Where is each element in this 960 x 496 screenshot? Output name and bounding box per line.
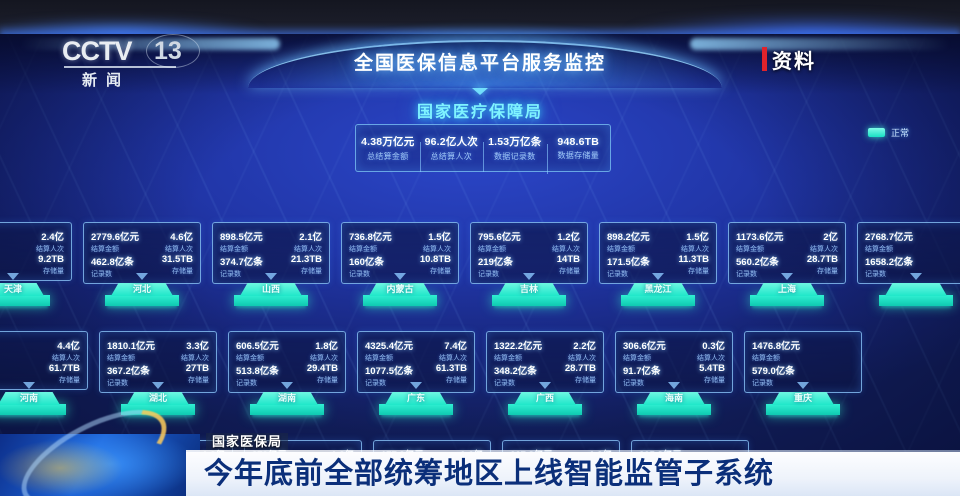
province-label: 广西	[508, 391, 582, 404]
province-plinth[interactable]: 吉林	[492, 283, 566, 309]
metric-label: 结算金额	[494, 353, 545, 363]
metric-record-count: 462.8亿条记录数	[91, 254, 142, 279]
node-connector	[152, 382, 164, 389]
metric-value: 27TB	[158, 363, 209, 374]
metric-value: 579.0亿条	[752, 363, 803, 377]
node-connector	[797, 382, 809, 389]
metric-label: 结算人次	[416, 353, 467, 363]
node-connector	[136, 273, 148, 280]
metric-settlement-amount	[0, 338, 29, 363]
channel-logo: CCTV 13 新闻	[62, 36, 212, 92]
metric-value: 1.2亿	[529, 229, 580, 243]
metric-value: 1658.2亿条	[865, 254, 916, 268]
metric-settlement-amount: 4325.4亿元结算金额	[365, 338, 416, 363]
channel-logo-number: 13	[154, 37, 182, 66]
plinth-body	[879, 295, 953, 306]
metric-label: 结算人次	[158, 353, 209, 363]
metric-value: 2.1亿	[271, 229, 322, 243]
node-connector	[668, 382, 680, 389]
metric-record-count: 579.0亿条记录数	[752, 363, 803, 388]
channel-logo-subtitle: 新闻	[82, 69, 130, 90]
metric-value: 61.3TB	[416, 363, 467, 374]
province-label: 重庆	[766, 391, 840, 404]
metric-label: 结算人次	[13, 244, 64, 254]
metric-value: 11.3TB	[658, 254, 709, 265]
metric-settlement-amount: 1810.1亿元结算金额	[107, 338, 158, 363]
metric-settlement-people: 1.8亿结算人次	[287, 338, 338, 363]
metric-label: 存储量	[13, 266, 64, 276]
metric-record-count: 1658.2亿条记录数	[865, 254, 916, 279]
metric-record-count: 91.7亿条记录数	[623, 363, 674, 388]
lower-third-graphic	[0, 434, 200, 496]
metric-value: 28.7TB	[787, 254, 838, 265]
metric-value: 306.6亿元	[623, 338, 674, 352]
province-plinth[interactable]: 重庆	[766, 392, 840, 418]
plinth-top	[885, 283, 947, 296]
metric-value: 61.7TB	[29, 363, 80, 374]
metric-record-count: 171.5亿条记录数	[607, 254, 658, 279]
metric-label: 结算人次	[287, 353, 338, 363]
metric-value: 2.2亿	[545, 338, 596, 352]
node-connector	[7, 273, 19, 280]
metric-label: 记录数	[736, 269, 787, 279]
metric-settlement-amount: 898.2亿元结算金额	[607, 229, 658, 254]
metric-storage-size	[916, 254, 960, 279]
province-label: 吉林	[492, 282, 566, 295]
province-label: 山西	[234, 282, 308, 295]
metric-record-count: 1077.5亿条记录数	[365, 363, 416, 388]
metric-label: 结算金额	[478, 244, 529, 254]
plinth-body	[0, 295, 50, 306]
metric-value: 1.5亿	[400, 229, 451, 243]
metric-label: 存储量	[158, 375, 209, 385]
metric-label: 记录数	[865, 269, 916, 279]
source-tag-label: 资料	[772, 45, 816, 74]
plinth-body	[0, 404, 66, 415]
metric-label: 存储量	[529, 266, 580, 276]
metric-label: 结算金额	[236, 353, 287, 363]
metric-label: 记录数	[91, 269, 142, 279]
metric-settlement-people: 4.6亿结算人次	[142, 229, 193, 254]
metric-label: 结算人次	[787, 244, 838, 254]
metric-storage-size: 61.7TB存储量	[29, 363, 80, 385]
metric-label: 结算金额	[865, 244, 916, 254]
metric-label: 记录数	[752, 378, 803, 388]
plinth-body	[105, 295, 179, 306]
metric-value: 1476.8亿元	[752, 338, 803, 352]
metric-settlement-amount: 2768.7亿元结算金额	[865, 229, 916, 254]
metric-label: 记录数	[107, 378, 158, 388]
metric-settlement-amount: 306.6亿元结算金额	[623, 338, 674, 363]
province-metric-card[interactable]: 2768.7亿元结算金额1658.2亿条记录数	[857, 222, 960, 284]
metric-value: 1.8亿	[287, 338, 338, 352]
metric-settlement-people: 0.3亿结算人次	[674, 338, 725, 363]
metric-label: 结算人次	[674, 353, 725, 363]
node-connector	[652, 273, 664, 280]
metric-label: 结算金额	[91, 244, 142, 254]
metric-value: 348.2亿条	[494, 363, 545, 377]
metric-value: 4.6亿	[142, 229, 193, 243]
lower-third-headline: 今年底前全部统筹地区上线智能监管子系统	[204, 455, 774, 493]
plinth-body	[492, 295, 566, 306]
metric-settlement-people: 1.5亿结算人次	[400, 229, 451, 254]
metric-settlement-people: 7.4亿结算人次	[416, 338, 467, 363]
metric-storage-size: 29.4TB存储量	[287, 363, 338, 388]
metric-value: 1322.2亿元	[494, 338, 545, 352]
plinth-body	[637, 404, 711, 415]
metric-label: 存储量	[29, 375, 80, 385]
node-connector	[265, 273, 277, 280]
province-plinth[interactable]: 河南	[0, 392, 66, 418]
metric-value: 3.3亿	[158, 338, 209, 352]
metric-label: 记录数	[220, 269, 271, 279]
metric-label: 存储量	[416, 375, 467, 385]
metric-settlement-amount	[0, 229, 13, 254]
metric-value: 7.4亿	[416, 338, 467, 352]
province-label: 湖北	[121, 391, 195, 404]
source-tag: 资料	[762, 46, 816, 72]
metric-value: 4.4亿	[29, 338, 80, 352]
province-label: 上海	[750, 282, 824, 295]
plinth-body	[363, 295, 437, 306]
metric-record-count: 513.8亿条记录数	[236, 363, 287, 388]
metric-storage-size: 5.4TB存储量	[674, 363, 725, 388]
plinth-body	[250, 404, 324, 415]
metric-settlement-people	[916, 229, 960, 254]
metric-label: 存储量	[787, 266, 838, 276]
plinth-body	[621, 295, 695, 306]
node-connector	[523, 273, 535, 280]
metric-value: 29.4TB	[287, 363, 338, 374]
metric-label: 结算金额	[623, 353, 674, 363]
province-plinth[interactable]: 上海	[750, 283, 824, 309]
metric-value: 5.4TB	[674, 363, 725, 374]
metric-storage-size: 14TB存储量	[529, 254, 580, 279]
metric-value: 560.2亿条	[736, 254, 787, 268]
metric-label: 结算金额	[349, 244, 400, 254]
metric-settlement-people: 2.4亿结算人次	[13, 229, 64, 254]
metric-label: 记录数	[349, 269, 400, 279]
metric-record-count: 219亿条记录数	[478, 254, 529, 279]
metric-storage-size: 27TB存储量	[158, 363, 209, 388]
metric-label: 存储量	[674, 375, 725, 385]
metric-value: 1173.6亿元	[736, 229, 787, 243]
node-connector	[394, 273, 406, 280]
province-label: 河北	[105, 282, 179, 295]
province-label: 内蒙古	[363, 282, 437, 295]
metric-value: 14TB	[529, 254, 580, 265]
metric-value: 898.2亿元	[607, 229, 658, 243]
metric-settlement-people: 2.2亿结算人次	[545, 338, 596, 363]
node-connector	[410, 382, 422, 389]
metric-label: 记录数	[236, 378, 287, 388]
metric-value: 28.7TB	[545, 363, 596, 374]
metric-value: 4325.4亿元	[365, 338, 416, 352]
metric-label: 记录数	[607, 269, 658, 279]
metric-storage-size: 10.8TB存储量	[400, 254, 451, 279]
metric-value: 160亿条	[349, 254, 400, 268]
metric-label: 结算金额	[607, 244, 658, 254]
metric-label: 结算金额	[736, 244, 787, 254]
province-plinth[interactable]: 内蒙古	[363, 283, 437, 309]
metric-value: 374.7亿条	[220, 254, 271, 268]
province-label: 河南	[0, 391, 66, 404]
metric-settlement-amount: 1476.8亿元结算金额	[752, 338, 803, 363]
province-plinth[interactable]	[879, 283, 953, 309]
metric-label: 存储量	[287, 375, 338, 385]
metric-storage-size: 28.7TB存储量	[787, 254, 838, 279]
metric-settlement-people: 2亿结算人次	[787, 229, 838, 254]
province-plinth[interactable]: 山西	[234, 283, 308, 309]
metric-settlement-amount: 736.8亿元结算金额	[349, 229, 400, 254]
metric-label: 结算人次	[658, 244, 709, 254]
metric-storage-size: 21.3TB存储量	[271, 254, 322, 279]
metric-storage-size: 61.3TB存储量	[416, 363, 467, 388]
metric-settlement-people: 1.5亿结算人次	[658, 229, 709, 254]
metric-label: 存储量	[142, 266, 193, 276]
province-plinth[interactable]: 湖南	[250, 392, 324, 418]
metric-settlement-people: 3.3亿结算人次	[158, 338, 209, 363]
metric-label: 存储量	[545, 375, 596, 385]
metric-label: 存储量	[400, 266, 451, 276]
metric-value: 736.8亿元	[349, 229, 400, 243]
plinth-body	[750, 295, 824, 306]
metric-settlement-amount: 606.5亿元结算金额	[236, 338, 287, 363]
plinth-body	[766, 404, 840, 415]
metric-value: 367.2亿条	[107, 363, 158, 377]
metric-label: 记录数	[365, 378, 416, 388]
province-label: 天津	[0, 282, 50, 295]
metric-value: 10.8TB	[400, 254, 451, 265]
metric-label: 存储量	[271, 266, 322, 276]
metric-label: 存储量	[658, 266, 709, 276]
metric-settlement-people	[803, 338, 854, 363]
province-plinth[interactable]: 黑龙江	[621, 283, 695, 309]
metric-record-count: 348.2亿条记录数	[494, 363, 545, 388]
metric-settlement-amount: 898.5亿元结算金额	[220, 229, 271, 254]
metric-value: 1077.5亿条	[365, 363, 416, 377]
metric-label: 结算人次	[529, 244, 580, 254]
metric-storage-size: 28.7TB存储量	[545, 363, 596, 388]
broadcast-screenshot: 全国医保信息平台服务监控 国家医疗保障局 4.38万亿元 总结算金额 96.2亿…	[0, 0, 960, 496]
plinth-body	[379, 404, 453, 415]
province-label: 广东	[379, 391, 453, 404]
metric-settlement-amount: 795.6亿元结算金额	[478, 229, 529, 254]
province-plinth[interactable]: 河北	[105, 283, 179, 309]
metric-storage-size: 31.5TB存储量	[142, 254, 193, 279]
metric-label: 结算金额	[752, 353, 803, 363]
lower-third-banner: 国家医保局 今年底前全部统筹地区上线智能监管子系统	[0, 434, 960, 496]
province-label: 黑龙江	[621, 282, 695, 295]
metric-value: 462.8亿条	[91, 254, 142, 268]
metric-settlement-people: 1.2亿结算人次	[529, 229, 580, 254]
province-label: 海南	[637, 391, 711, 404]
metric-value: 2亿	[787, 229, 838, 243]
metric-value: 795.6亿元	[478, 229, 529, 243]
metric-value: 0.3亿	[674, 338, 725, 352]
metric-label: 结算人次	[271, 244, 322, 254]
metric-label: 结算金额	[365, 353, 416, 363]
node-connector	[539, 382, 551, 389]
source-tag-accent	[762, 47, 767, 71]
metric-value: 91.7亿条	[623, 363, 674, 377]
province-plinth[interactable]: 天津	[0, 283, 50, 309]
plinth-body	[508, 404, 582, 415]
node-connector	[23, 382, 35, 389]
metric-settlement-amount: 1173.6亿元结算金额	[736, 229, 787, 254]
metric-label: 结算人次	[29, 353, 80, 363]
province-metric-card[interactable]: 4.4亿结算人次61.7TB存储量	[0, 331, 88, 390]
metric-value: 1810.1亿元	[107, 338, 158, 352]
metric-label: 结算人次	[545, 353, 596, 363]
metric-value: 2.4亿	[13, 229, 64, 243]
metric-label: 记录数	[623, 378, 674, 388]
metric-value: 513.8亿条	[236, 363, 287, 377]
metric-record-count: 160亿条记录数	[349, 254, 400, 279]
metric-label: 结算人次	[400, 244, 451, 254]
metric-value: 898.5亿元	[220, 229, 271, 243]
province-plinth[interactable]: 海南	[637, 392, 711, 418]
metric-label: 记录数	[478, 269, 529, 279]
node-connector	[781, 273, 793, 280]
metric-settlement-people: 4.4亿结算人次	[29, 338, 80, 363]
node-connector	[910, 273, 922, 280]
metric-storage-size: 9.2TB存储量	[13, 254, 64, 276]
metric-value: 2768.7亿元	[865, 229, 916, 243]
metric-label: 结算金额	[220, 244, 271, 254]
province-plinth[interactable]: 广东	[379, 392, 453, 418]
lower-third-kicker: 国家医保局	[206, 433, 288, 450]
metric-record-count: 374.7亿条记录数	[220, 254, 271, 279]
metric-label: 结算人次	[142, 244, 193, 254]
channel-logo-cctv: CCTV	[62, 36, 132, 67]
metric-value: 171.5亿条	[607, 254, 658, 268]
metric-value: 31.5TB	[142, 254, 193, 265]
metric-value: 219亿条	[478, 254, 529, 268]
province-label: 湖南	[250, 391, 324, 404]
metric-label: 结算金额	[107, 353, 158, 363]
metric-record-count: 560.2亿条记录数	[736, 254, 787, 279]
plinth-body	[234, 295, 308, 306]
metric-value: 21.3TB	[271, 254, 322, 265]
metric-value: 2779.6亿元	[91, 229, 142, 243]
metric-settlement-amount: 1322.2亿元结算金额	[494, 338, 545, 363]
metric-value: 1.5亿	[658, 229, 709, 243]
metric-settlement-people: 2.1亿结算人次	[271, 229, 322, 254]
province-plinth[interactable]: 广西	[508, 392, 582, 418]
metric-settlement-amount: 2779.6亿元结算金额	[91, 229, 142, 254]
metric-value: 606.5亿元	[236, 338, 287, 352]
metric-label: 记录数	[494, 378, 545, 388]
metric-record-count: 367.2亿条记录数	[107, 363, 158, 388]
node-connector	[281, 382, 293, 389]
metric-value: 9.2TB	[13, 254, 64, 265]
metric-storage-size: 11.3TB存储量	[658, 254, 709, 279]
metric-storage-size	[803, 363, 854, 388]
channel-logo-rule	[64, 66, 176, 68]
